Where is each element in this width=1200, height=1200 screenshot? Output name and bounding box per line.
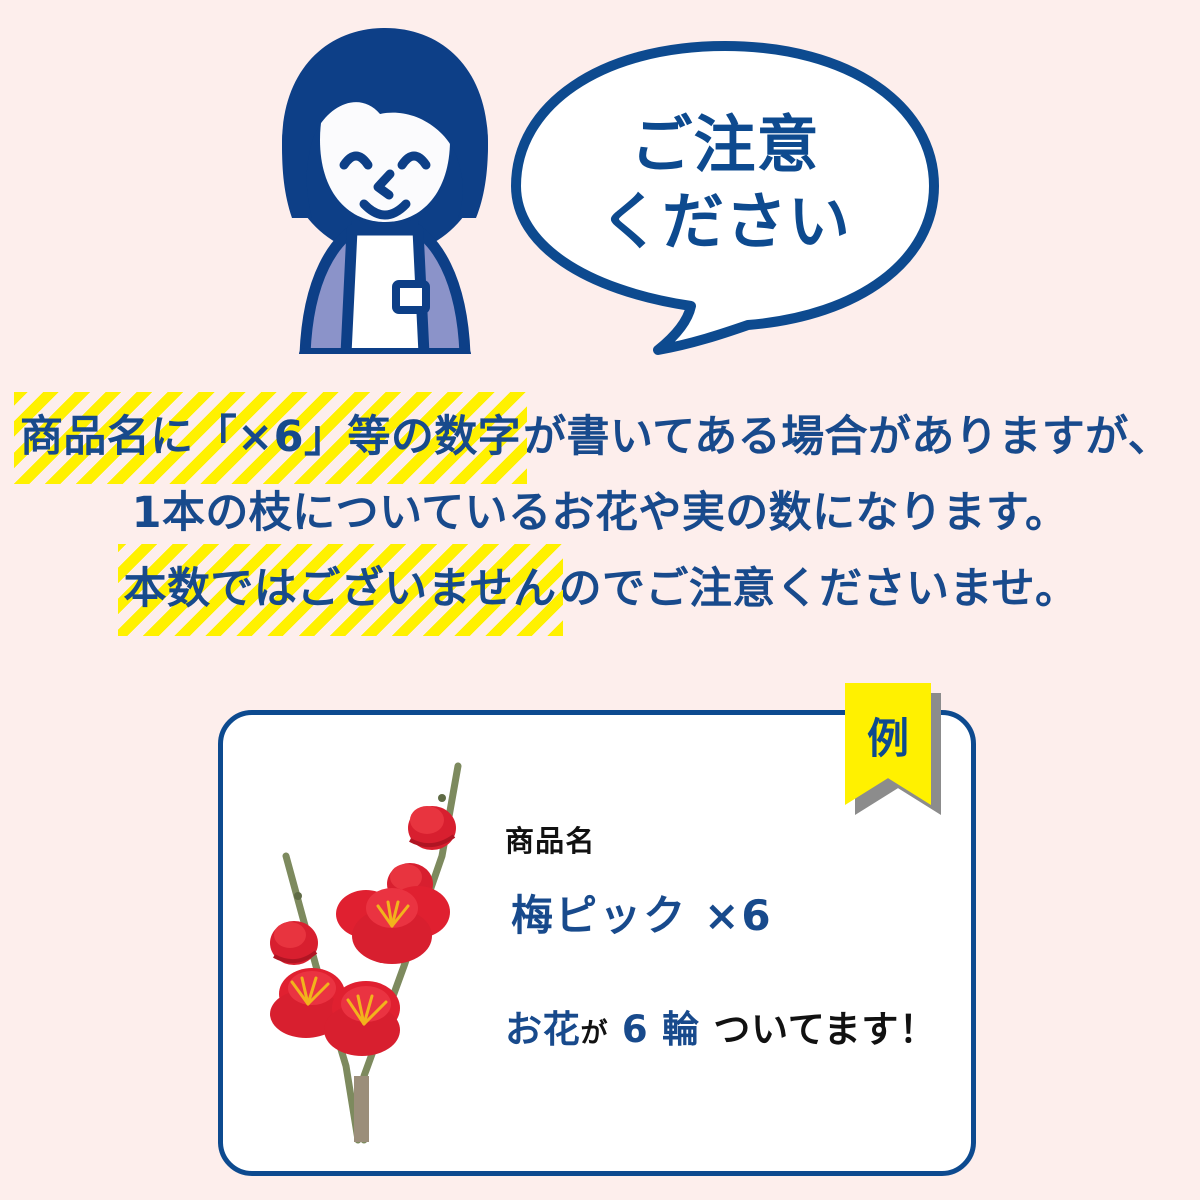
note-part-count: 6 — [622, 1008, 649, 1051]
ribbon-label: 例 — [845, 705, 931, 766]
example-card-body: 商品名 梅ピック ×6 お花が 6 輪 ついてます！ — [505, 818, 975, 1053]
hero-section: ご注意 ください — [0, 0, 1200, 380]
notice-page: ご注意 ください 商品名に「×6」等の数字が書いてある場合がありますが、 1本の… — [0, 0, 1200, 1200]
message-line-3-highlight: 本数ではございません — [122, 550, 559, 628]
message-line-3: 本数ではございませんのでご注意くださいませ。 — [0, 550, 1200, 628]
flower-count-note: お花が 6 輪 ついてます！ — [505, 999, 975, 1053]
note-part-flower: お花 — [505, 1008, 580, 1051]
product-name-value: 梅ピック ×6 — [505, 876, 781, 951]
speech-bubble: ご注意 ください — [508, 38, 942, 358]
note-part-tail: ついてます！ — [713, 1008, 936, 1051]
note-part-counter: 輪 — [662, 1008, 700, 1051]
example-ribbon: 例 — [845, 683, 931, 805]
speech-bubble-text: ご注意 ください — [508, 38, 942, 328]
message-line-1-rest: が書いてある場合がありますが、 — [523, 412, 1171, 462]
red-plum-blossom-pick-photo — [246, 736, 496, 1148]
message-line-3-rest: のでご注意くださいませ。 — [559, 564, 1079, 614]
note-part-ga: が — [580, 1018, 608, 1049]
bubble-line-1: ご注意 — [631, 108, 820, 181]
bubble-line-2: ください — [599, 185, 851, 258]
notice-message: 商品名に「×6」等の数字が書いてある場合がありますが、 1本の枝についているお花… — [0, 398, 1200, 628]
message-line-1: 商品名に「×6」等の数字が書いてある場合がありますが、 — [0, 398, 1200, 476]
message-line-2: 1本の枝についているお花や実の数になります。 — [0, 476, 1200, 550]
message-line-1-highlight: 商品名に「×6」等の数字 — [18, 398, 523, 476]
shop-staff-woman-icon — [272, 22, 498, 354]
product-name-label: 商品名 — [505, 818, 975, 860]
